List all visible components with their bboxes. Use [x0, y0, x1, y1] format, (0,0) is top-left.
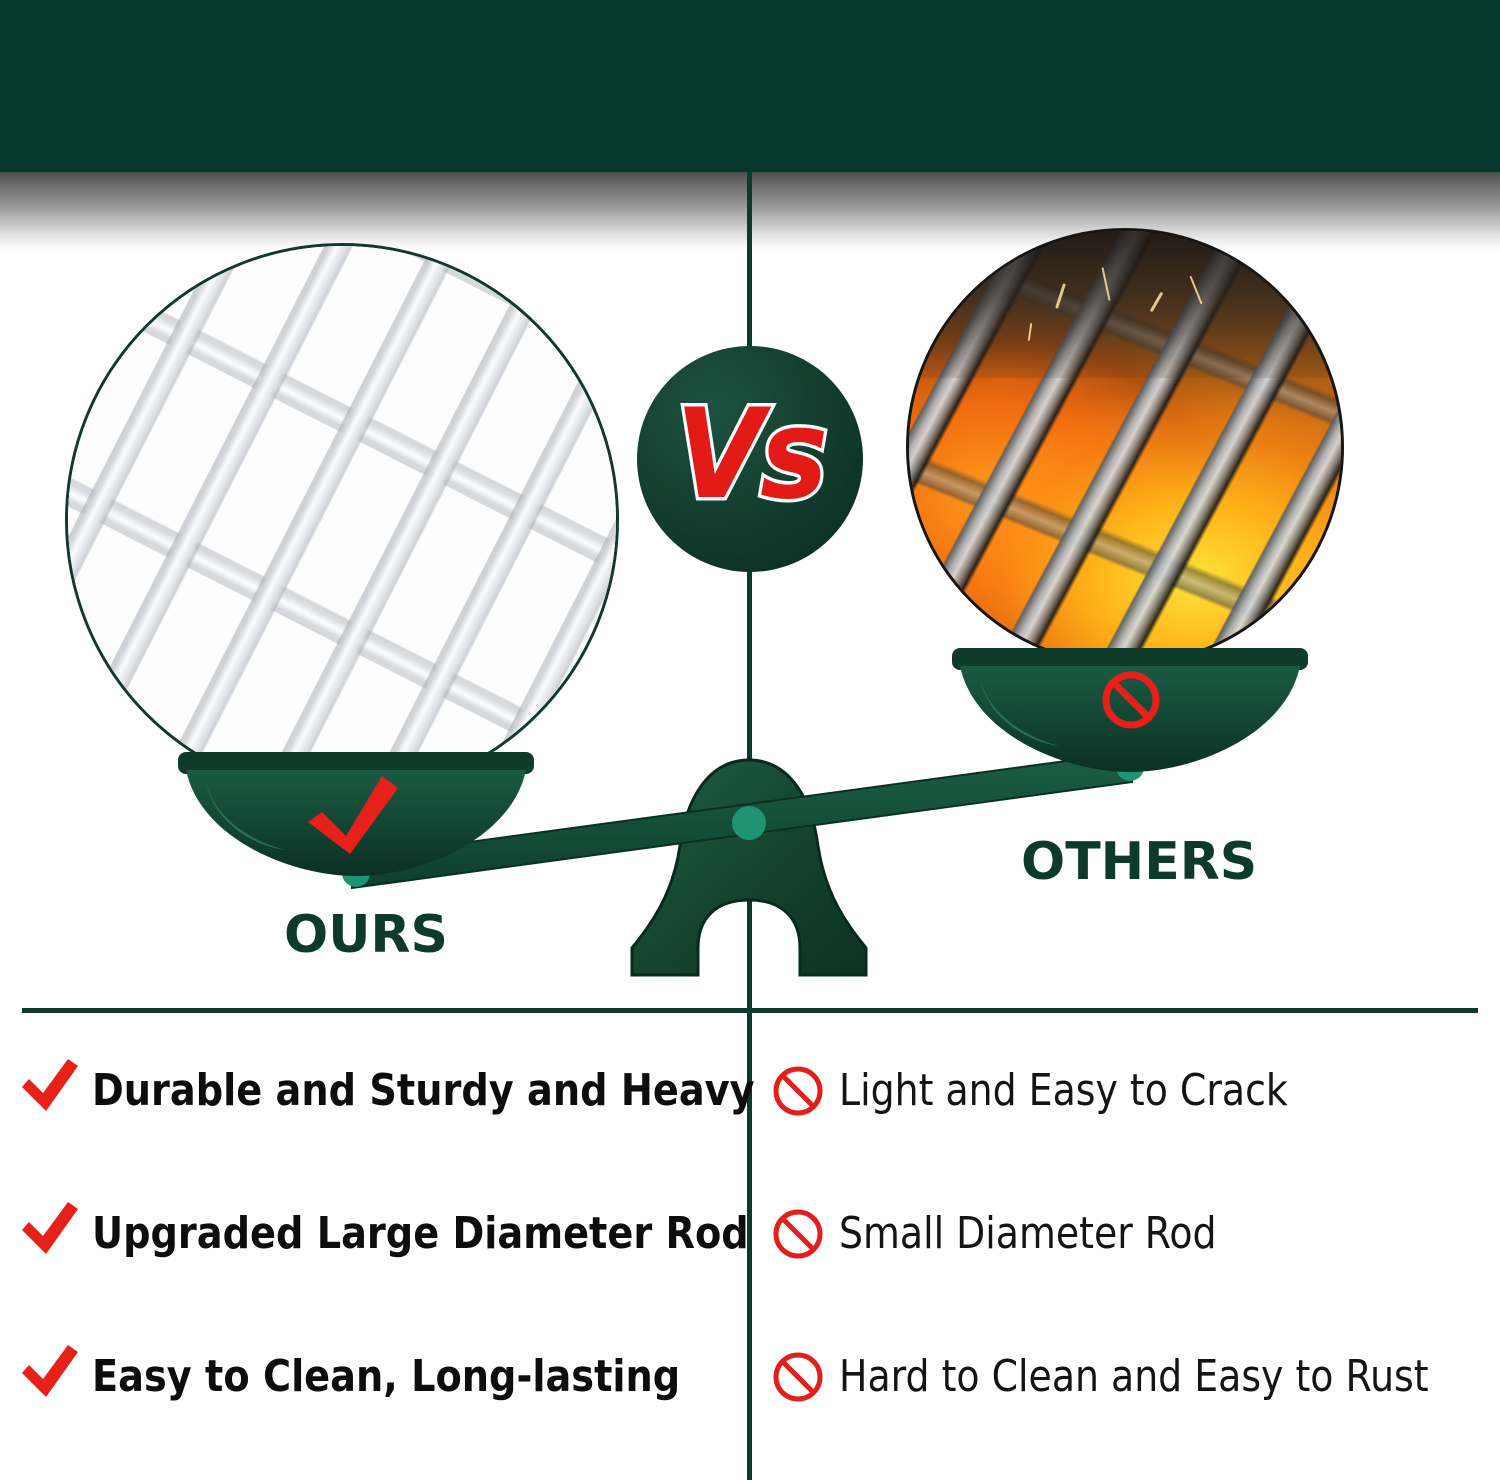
prohibition-icon [771, 1064, 825, 1118]
prohibition-icon [771, 1207, 825, 1261]
table-row: Easy to Clean, Long-lasting Hard to Clea… [0, 1299, 1500, 1454]
ours-cell: Upgraded Large Diameter Rod [0, 1156, 747, 1311]
others-scale-pan [952, 648, 1308, 772]
others-feature-text: Light and Easy to Crack [839, 1069, 1288, 1113]
prohibition-icon [1106, 675, 1156, 725]
charred-top-overlay [909, 231, 1341, 378]
ours-feature-text: Durable and Sturdy and Heavy [92, 1069, 755, 1113]
ours-feature-text: Upgraded Large Diameter Rod [92, 1212, 749, 1256]
vs-label: Vs [676, 393, 825, 525]
table-row: Durable and Sturdy and Heavy Light and E… [0, 1013, 1500, 1168]
others-cell: Small Diameter Rod [747, 1156, 1500, 1311]
prohibition-icon [771, 1350, 825, 1404]
others-feature-text: Hard to Clean and Easy to Rust [839, 1355, 1429, 1399]
ours-cell: Easy to Clean, Long-lasting [0, 1299, 747, 1454]
ours-product-photo [65, 243, 619, 797]
others-product-photo [906, 228, 1344, 666]
check-icon [16, 1198, 82, 1264]
others-feature-text: Small Diameter Rod [839, 1212, 1217, 1256]
table-row: Upgraded Large Diameter Rod Small Diamet… [0, 1156, 1500, 1311]
ours-label: OURS [284, 905, 448, 965]
ours-cell: Durable and Sturdy and Heavy [0, 1013, 747, 1168]
vs-badge: Vs [637, 346, 863, 572]
beam-left-end [342, 859, 370, 887]
others-cell: Light and Easy to Crack [747, 1013, 1500, 1168]
header-bar [0, 0, 1500, 172]
clean-grate-texture [65, 243, 619, 797]
others-cell: Hard to Clean and Easy to Rust [747, 1299, 1500, 1454]
beam-right-end [1116, 753, 1144, 781]
others-label: OTHERS [1021, 832, 1257, 892]
check-icon [16, 1055, 82, 1121]
infographic-page: Upgraded Grates Vs [0, 0, 1500, 1480]
check-icon [16, 1341, 82, 1407]
comparison-table: Durable and Sturdy and Heavy Light and E… [0, 1013, 1500, 1480]
ours-feature-text: Easy to Clean, Long-lasting [92, 1355, 680, 1399]
